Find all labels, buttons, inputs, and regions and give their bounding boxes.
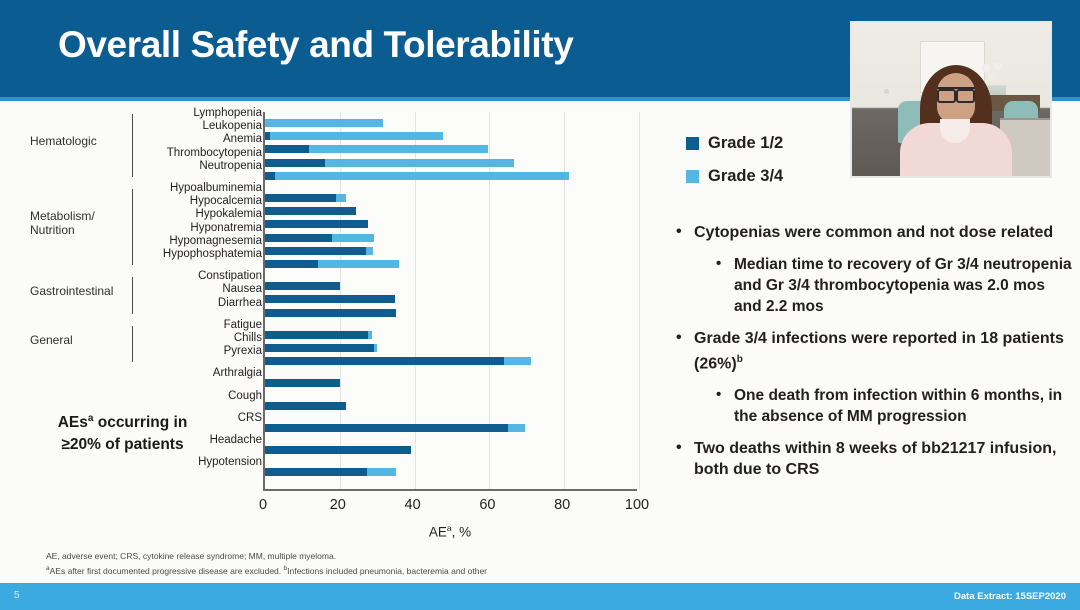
plot-area bbox=[263, 112, 637, 491]
x-tick-label: 0 bbox=[259, 497, 267, 513]
bar-row bbox=[265, 132, 639, 140]
adverse-events-bar-chart: LymphopeniaLeukopeniaAnemiaThrombocytope… bbox=[0, 104, 660, 544]
legend-label: Grade 1/2 bbox=[708, 134, 783, 153]
bar-segment-grade-3-4 bbox=[270, 132, 444, 140]
bar-row bbox=[265, 260, 639, 268]
x-tick-label: 20 bbox=[330, 497, 346, 513]
category-label: CRS bbox=[238, 412, 262, 424]
group-label: General bbox=[30, 333, 126, 347]
category-label: Neutropenia bbox=[199, 160, 262, 172]
bar-segment-grade-1-2 bbox=[265, 424, 508, 432]
video-background bbox=[852, 23, 1050, 176]
x-tick-label: 60 bbox=[479, 497, 495, 513]
bar-segment-grade-1-2 bbox=[265, 357, 504, 365]
category-label: Hypotension bbox=[198, 456, 262, 468]
bar-segment-grade-1-2 bbox=[265, 145, 309, 153]
bar-segment-grade-1-2 bbox=[265, 295, 395, 303]
bar-row bbox=[265, 446, 639, 454]
category-label: Hypocalcemia bbox=[190, 195, 262, 207]
x-tick-label: 80 bbox=[554, 497, 570, 513]
bar-segment-grade-1-2 bbox=[265, 207, 356, 215]
bar-row bbox=[265, 424, 639, 432]
bar-row bbox=[265, 295, 639, 303]
group-label: Gastrointestinal bbox=[30, 284, 126, 298]
bar-segment-grade-1-2 bbox=[265, 282, 340, 290]
legend-item-grade-3-4: Grade 3/4 bbox=[686, 167, 783, 186]
x-axis-title: AEa, % bbox=[263, 523, 637, 540]
group-label: Metabolism/Nutrition bbox=[30, 209, 126, 237]
bar-row bbox=[265, 119, 639, 127]
gridline bbox=[639, 112, 640, 489]
bullet-level-1: Two deaths within 8 weeks of bb21217 inf… bbox=[672, 438, 1074, 480]
bar-row bbox=[265, 247, 639, 255]
group-divider bbox=[132, 277, 133, 313]
bar-row bbox=[265, 172, 639, 180]
legend-swatch-icon bbox=[686, 170, 699, 183]
footer-bar: 5 Data Extract: 15SEP2020 bbox=[0, 583, 1080, 610]
category-label: Arthralgia bbox=[213, 367, 262, 379]
page-title: Overall Safety and Tolerability bbox=[58, 24, 573, 66]
presenter-video-tile[interactable] bbox=[850, 21, 1052, 178]
findings-bullet-list: Cytopenias were common and not dose rela… bbox=[672, 222, 1074, 491]
bar-segment-grade-1-2 bbox=[265, 234, 332, 242]
bullet-level-1: Grade 3/4 infections were reported in 18… bbox=[672, 328, 1074, 374]
bar-row bbox=[265, 379, 639, 387]
chart-legend: Grade 1/2Grade 3/4 bbox=[686, 134, 783, 200]
bar-row bbox=[265, 220, 639, 228]
bar-row bbox=[265, 402, 639, 410]
bar-segment-grade-1-2 bbox=[265, 309, 396, 317]
bar-row bbox=[265, 357, 639, 365]
bullet-level-2: One death from infection within 6 months… bbox=[714, 385, 1074, 427]
category-label: Diarrhea bbox=[218, 297, 262, 309]
bar-row bbox=[265, 159, 639, 167]
group-label: Hematologic bbox=[30, 134, 126, 148]
bar-segment-grade-3-4 bbox=[504, 357, 531, 365]
category-label: Leukopenia bbox=[203, 120, 262, 132]
category-label: Nausea bbox=[222, 283, 262, 295]
glasses-icon bbox=[937, 87, 975, 98]
bullet-level-2: Median time to recovery of Gr 3/4 neutro… bbox=[714, 254, 1074, 317]
bar-row bbox=[265, 282, 639, 290]
category-label: Hypomagnesemia bbox=[169, 235, 262, 247]
bar-segment-grade-3-4 bbox=[318, 260, 399, 268]
category-label: Hypoalbuminemia bbox=[170, 182, 262, 194]
bar-segment-grade-1-2 bbox=[265, 344, 374, 352]
category-label: Cough bbox=[228, 390, 262, 402]
bar-segment-grade-3-4 bbox=[367, 468, 396, 476]
bullet-level-1: Cytopenias were common and not dose rela… bbox=[672, 222, 1074, 243]
bar-row bbox=[265, 309, 639, 317]
bar-segment-grade-3-4 bbox=[336, 194, 346, 202]
group-divider bbox=[132, 326, 133, 362]
legend-item-grade-1-2: Grade 1/2 bbox=[686, 134, 783, 153]
footnotes: AE, adverse event; CRS, cytokine release… bbox=[46, 551, 666, 577]
category-label: Hyponatremia bbox=[190, 222, 262, 234]
category-label: Pyrexia bbox=[224, 345, 262, 357]
bar-segment-grade-1-2 bbox=[265, 172, 275, 180]
bar-segment-grade-1-2 bbox=[265, 379, 340, 387]
bar-segment-grade-1-2 bbox=[265, 194, 336, 202]
bar-row bbox=[265, 344, 639, 352]
bar-segment-grade-1-2 bbox=[265, 220, 368, 228]
bar-row bbox=[265, 145, 639, 153]
group-divider bbox=[132, 189, 133, 265]
aes-threshold-note: AEsa occurring in≥20% of patients bbox=[30, 408, 215, 456]
bar-segment-grade-3-4 bbox=[332, 234, 374, 242]
bar-row bbox=[265, 234, 639, 242]
bar-segment-grade-3-4 bbox=[275, 172, 569, 180]
category-label: Hypophosphatemia bbox=[163, 248, 262, 260]
x-tick-label: 100 bbox=[625, 497, 649, 513]
bar-segment-grade-1-2 bbox=[265, 402, 346, 410]
category-label: Anemia bbox=[223, 133, 262, 145]
category-label: Fatigue bbox=[224, 319, 262, 331]
x-tick-label: 40 bbox=[405, 497, 421, 513]
bar-segment-grade-3-4 bbox=[325, 159, 513, 167]
category-label: Thrombocytopenia bbox=[167, 147, 262, 159]
bar-row bbox=[265, 194, 639, 202]
bar-segment-grade-1-2 bbox=[265, 260, 318, 268]
category-label: Hypokalemia bbox=[196, 208, 262, 220]
category-label: Lymphopenia bbox=[193, 107, 262, 119]
bar-segment-grade-1-2 bbox=[265, 331, 368, 339]
bar-row bbox=[265, 207, 639, 215]
bar-segment-grade-3-4 bbox=[309, 145, 487, 153]
group-divider bbox=[132, 114, 133, 177]
bar-segment-grade-1-2 bbox=[265, 159, 325, 167]
bar-segment-grade-3-4 bbox=[368, 331, 372, 339]
slide-number: 5 bbox=[14, 590, 20, 601]
bar-row bbox=[265, 331, 639, 339]
legend-swatch-icon bbox=[686, 137, 699, 150]
category-label: Chills bbox=[234, 332, 262, 344]
category-label: Constipation bbox=[198, 270, 262, 282]
bar-segment-grade-3-4 bbox=[374, 344, 377, 352]
category-label: Headache bbox=[210, 434, 262, 446]
bar-row bbox=[265, 468, 639, 476]
bar-segment-grade-3-4 bbox=[508, 424, 525, 432]
bar-segment-grade-3-4 bbox=[265, 119, 383, 127]
bar-segment-grade-1-2 bbox=[265, 247, 366, 255]
legend-label: Grade 3/4 bbox=[708, 167, 783, 186]
footnote-methods: aAEs after first documented progressive … bbox=[46, 563, 666, 577]
bar-segment-grade-1-2 bbox=[265, 468, 367, 476]
wall-dot-decor bbox=[884, 89, 889, 94]
footnote-abbreviations: AE, adverse event; CRS, cytokine release… bbox=[46, 551, 666, 563]
bar-segment-grade-3-4 bbox=[366, 247, 373, 255]
bar-segment-grade-1-2 bbox=[265, 446, 411, 454]
data-extract-label: Data Extract: 15SEP2020 bbox=[954, 591, 1066, 602]
